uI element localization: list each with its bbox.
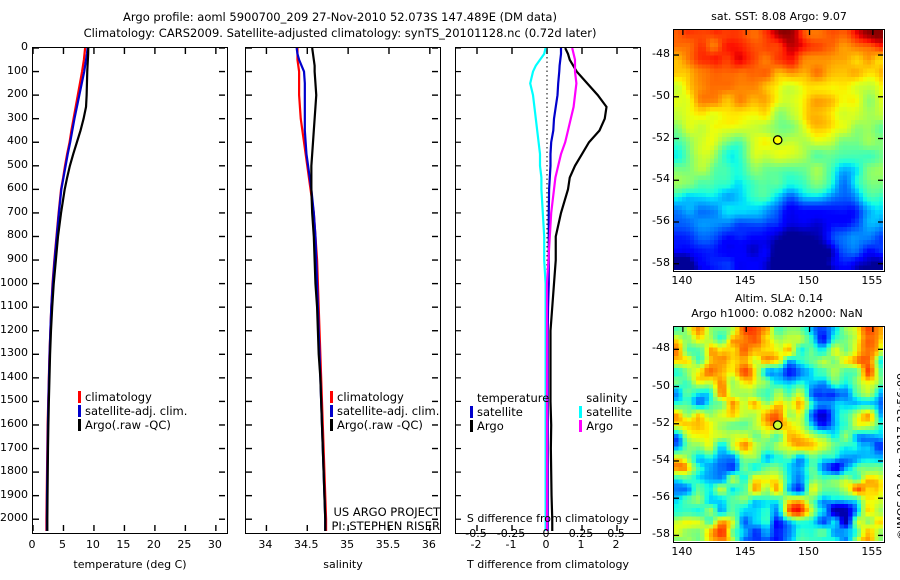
depth-tick-200: 200 bbox=[0, 87, 28, 100]
depth-tick-2000: 2000 bbox=[0, 511, 28, 524]
legend-header-salinity: salinity bbox=[579, 391, 632, 405]
legend-item-satellite: satellite-adj. clim. bbox=[78, 404, 187, 418]
temp-tick-0: 0 bbox=[18, 538, 46, 551]
depth-tick-1400: 1400 bbox=[0, 370, 28, 383]
footer-pi: PI: STEPHEN RISER bbox=[330, 519, 440, 533]
depth-tick-0: 0 bbox=[0, 40, 28, 53]
series-argo--raw--qc- bbox=[47, 48, 88, 531]
legend-item-temperature-argo: Argo bbox=[470, 419, 549, 433]
sla-lon-140: 140 bbox=[666, 545, 698, 558]
depth-tick-500: 500 bbox=[0, 158, 28, 171]
legend-item-temperature-satellite: satellite bbox=[470, 405, 549, 419]
depth-tick-1600: 1600 bbox=[0, 417, 28, 430]
sla-lat--52: -52 bbox=[638, 416, 670, 429]
depth-tick-300: 300 bbox=[0, 111, 28, 124]
legend-swatch-temperature-argo bbox=[470, 420, 473, 432]
temperature-xaxis-label: temperature (deg C) bbox=[32, 558, 228, 571]
tdiff-tick-4: 2 bbox=[602, 538, 630, 551]
difference-legend: temperature satellite Argo salinity sate… bbox=[470, 391, 632, 433]
sal-tick-36: 36 bbox=[409, 538, 449, 551]
footer-project: US ARGO PROJECT bbox=[330, 505, 440, 519]
legend-swatch-temperature-satellite bbox=[470, 406, 473, 418]
sla-lon-155: 155 bbox=[856, 545, 888, 558]
sal-tick-34: 34 bbox=[245, 538, 285, 551]
sla-lat--58: -58 bbox=[638, 527, 670, 540]
legend-label-salinity-argo: Argo bbox=[586, 419, 613, 433]
depth-tick-1300: 1300 bbox=[0, 346, 28, 359]
legend-label-argo: Argo(.raw -QC) bbox=[85, 418, 171, 432]
tdiff-tick-0: -2 bbox=[462, 538, 490, 551]
temp-tick-30: 30 bbox=[201, 538, 229, 551]
legend-label-satellite: satellite-adj. clim. bbox=[85, 404, 187, 418]
tdiff-tick-2: 0 bbox=[532, 538, 560, 551]
sst-lat--50: -50 bbox=[638, 89, 670, 102]
series-salinity-satellite bbox=[530, 48, 545, 531]
legend-item-climatology: climatology bbox=[78, 390, 187, 404]
profile-location-marker bbox=[774, 136, 782, 144]
salinity-panel bbox=[245, 47, 441, 534]
legend-item-satellite: satellite-adj. clim. bbox=[330, 404, 439, 418]
sst-lon-150: 150 bbox=[793, 274, 825, 287]
sla-lon-150: 150 bbox=[793, 545, 825, 558]
legend-label-argo: Argo(.raw -QC) bbox=[337, 418, 423, 432]
legend-label-climatology: climatology bbox=[337, 390, 404, 404]
temp-tick-15: 15 bbox=[109, 538, 137, 551]
series-temperature-argo bbox=[551, 48, 607, 531]
depth-tick-1500: 1500 bbox=[0, 393, 28, 406]
legend-label-temperature-satellite: satellite bbox=[477, 405, 523, 419]
legend-swatch-climatology bbox=[330, 391, 333, 403]
tdiff-tick-1: -1 bbox=[497, 538, 525, 551]
imos-credit: ©IMOS 02-Aug-2017 23:56:09 bbox=[895, 373, 900, 540]
depth-tick-1200: 1200 bbox=[0, 323, 28, 336]
sst-lat--52: -52 bbox=[638, 131, 670, 144]
sal-tick-34.5: 34.5 bbox=[286, 538, 326, 551]
legend-swatch-argo bbox=[330, 419, 333, 431]
sla-lat--56: -56 bbox=[638, 490, 670, 503]
legend-swatch-argo bbox=[78, 419, 81, 431]
depth-tick-700: 700 bbox=[0, 205, 28, 218]
sla-map-title-line1: Altim. SLA: 0.14 bbox=[660, 292, 898, 305]
legend-swatch-satellite bbox=[330, 405, 333, 417]
sst-map-title: sat. SST: 8.08 Argo: 9.07 bbox=[660, 10, 898, 23]
legend-swatch-satellite bbox=[78, 405, 81, 417]
difference-temperature-axis-label: T difference from climatology bbox=[455, 558, 641, 571]
sla-map-panel bbox=[673, 326, 885, 543]
legend-item-salinity-argo: Argo bbox=[579, 419, 632, 433]
sst-lat--58: -58 bbox=[638, 256, 670, 269]
salinity-xaxis-label: salinity bbox=[245, 558, 441, 571]
page-title-line1: Argo profile: aoml 5900700_209 27-Nov-20… bbox=[0, 10, 680, 24]
depth-tick-900: 900 bbox=[0, 252, 28, 265]
sla-lat--48: -48 bbox=[638, 341, 670, 354]
depth-tick-800: 800 bbox=[0, 228, 28, 241]
difference-panel bbox=[455, 47, 641, 534]
sst-map-panel bbox=[673, 29, 885, 272]
sst-lon-140: 140 bbox=[666, 274, 698, 287]
series-climatology bbox=[297, 48, 326, 531]
temp-tick-25: 25 bbox=[170, 538, 198, 551]
difference-salinity-axis-label: S difference from climatology bbox=[455, 512, 641, 525]
salinity-legend: climatology satellite-adj. clim. Argo(.r… bbox=[330, 390, 439, 432]
sst-lon-145: 145 bbox=[729, 274, 761, 287]
temperature-panel bbox=[32, 47, 228, 534]
legend-item-climatology: climatology bbox=[330, 390, 439, 404]
page-title-line2: Climatology: CARS2009. Satellite-adjuste… bbox=[0, 26, 680, 40]
sst-lat--48: -48 bbox=[638, 47, 670, 60]
depth-tick-1100: 1100 bbox=[0, 299, 28, 312]
sla-lat--50: -50 bbox=[638, 379, 670, 392]
sla-map-title-line2: Argo h1000: 0.082 h2000: NaN bbox=[652, 307, 900, 320]
sla-lon-145: 145 bbox=[729, 545, 761, 558]
depth-tick-1800: 1800 bbox=[0, 464, 28, 477]
depth-tick-600: 600 bbox=[0, 181, 28, 194]
legend-item-salinity-satellite: satellite bbox=[579, 405, 632, 419]
legend-item-argo: Argo(.raw -QC) bbox=[330, 418, 439, 432]
sst-lat--54: -54 bbox=[638, 172, 670, 185]
legend-label-climatology: climatology bbox=[85, 390, 152, 404]
legend-label-salinity-satellite: satellite bbox=[586, 405, 632, 419]
temp-tick-10: 10 bbox=[79, 538, 107, 551]
temperature-legend: climatology satellite-adj. clim. Argo(.r… bbox=[78, 390, 187, 432]
sst-lat--56: -56 bbox=[638, 214, 670, 227]
legend-label-satellite: satellite-adj. clim. bbox=[337, 404, 439, 418]
legend-swatch-climatology bbox=[78, 391, 81, 403]
sal-tick-35.5: 35.5 bbox=[368, 538, 408, 551]
depth-tick-100: 100 bbox=[0, 64, 28, 77]
depth-tick-1700: 1700 bbox=[0, 441, 28, 454]
sla-lat--54: -54 bbox=[638, 453, 670, 466]
sst-lon-155: 155 bbox=[856, 274, 888, 287]
legend-header-temperature: temperature bbox=[470, 391, 549, 405]
sal-tick-35: 35 bbox=[327, 538, 367, 551]
profile-location-marker bbox=[774, 421, 782, 429]
legend-item-argo: Argo(.raw -QC) bbox=[78, 418, 187, 432]
legend-label-temperature-argo: Argo bbox=[477, 419, 504, 433]
legend-swatch-salinity-satellite bbox=[579, 406, 582, 418]
depth-tick-1000: 1000 bbox=[0, 276, 28, 289]
temp-tick-5: 5 bbox=[48, 538, 76, 551]
legend-swatch-salinity-argo bbox=[579, 420, 582, 432]
tdiff-tick-3: 1 bbox=[567, 538, 595, 551]
temp-tick-20: 20 bbox=[140, 538, 168, 551]
depth-tick-400: 400 bbox=[0, 134, 28, 147]
depth-tick-1900: 1900 bbox=[0, 488, 28, 501]
